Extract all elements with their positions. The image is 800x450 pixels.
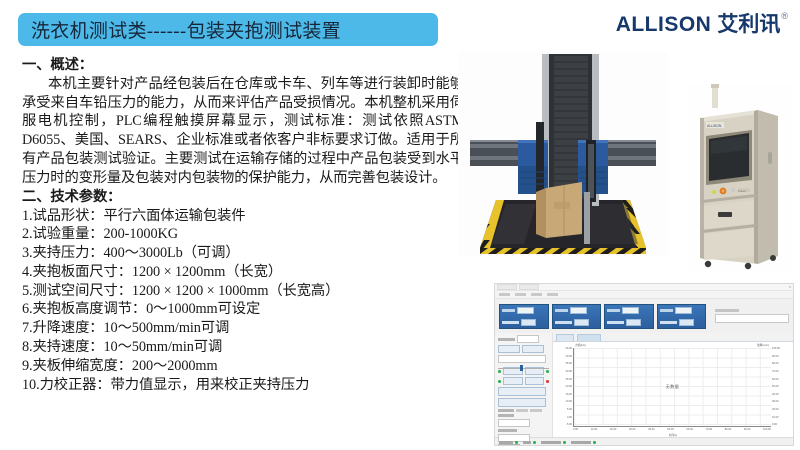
status-item-sampling [541, 441, 566, 444]
readout-unit-box [517, 307, 534, 314]
chart-area: 力值(Lb) 位移(mm) 45.00 40.00 35.00 30.00 25… [553, 333, 793, 437]
tick-label: 0.00 [567, 417, 572, 420]
tick-label: 70.00 [772, 371, 779, 374]
status-dot-down [546, 370, 549, 373]
start-button[interactable] [498, 387, 546, 396]
software-screenshot: × [494, 283, 794, 446]
tick-label: 5.00 [567, 409, 572, 412]
left-axis-ticks: 45.00 40.00 35.00 30.00 25.00 20.00 15.0… [554, 348, 572, 427]
tick-label: 40.00 [648, 429, 655, 434]
software-titlebar: × [495, 284, 793, 291]
list-item: 2.试验重量：200-1000KG [22, 225, 464, 244]
tick-label: 70.00 [706, 429, 713, 434]
svg-text:Power: Power [738, 189, 746, 193]
sample-name-label [498, 414, 514, 417]
slider-track [498, 368, 549, 369]
overview-heading: 一、概述： [22, 56, 464, 75]
readout-action-button[interactable] [574, 319, 589, 326]
status-label [523, 441, 531, 444]
plot-canvas[interactable]: 无数据 [573, 348, 771, 427]
tick-label: -5.00 [566, 424, 572, 427]
right-axis-unit: 位移(mm) [757, 343, 769, 347]
status-dot-alarm [546, 380, 549, 383]
window-tab[interactable] [497, 284, 517, 290]
tick-label: 60.00 [686, 429, 693, 434]
status-label [571, 441, 591, 444]
status-dot-clamp [498, 380, 501, 383]
parameter-list: 1.试品形状：平行六面体运输包装件 2.试验重量：200-1000KG 3.夹持… [22, 207, 464, 395]
status-dot-device [515, 441, 518, 444]
list-item: 4.夹抱板面尺寸：1200 × 1200mm（长宽） [22, 263, 464, 282]
note-input[interactable] [715, 314, 789, 323]
options-label [498, 409, 514, 412]
title-banner: 洗衣机测试类------包装夹抱测试装置 [18, 13, 438, 46]
tick-label: 10.00 [591, 429, 598, 434]
tab-curve[interactable] [556, 334, 574, 341]
status-dot-comm [533, 441, 536, 444]
machine-illustration [458, 52, 668, 257]
trademark-icon: ® [781, 11, 788, 21]
readout-value [607, 321, 624, 324]
status-label [499, 441, 513, 444]
note-label [715, 309, 739, 312]
tick-label: 10.00 [772, 417, 779, 420]
tick-label: 10.00 [566, 401, 573, 404]
status-item-comm [523, 441, 536, 444]
tick-label: 15.00 [566, 394, 573, 397]
readout-action-button[interactable] [521, 319, 536, 326]
tick-label: 40.00 [566, 356, 573, 359]
readout-unit-box [675, 307, 692, 314]
list-item: 5.测试空间尺寸：1200 × 1200 × 1000mm（长宽高） [22, 282, 464, 301]
readout-panel-force[interactable] [499, 304, 549, 329]
menu-item-edit[interactable] [515, 293, 526, 296]
readout-label [502, 309, 515, 312]
menu-item-tools[interactable] [531, 293, 542, 296]
page-title: 洗衣机测试类------包装夹抱测试装置 [31, 16, 341, 43]
list-item: 3.夹持压力：400～3000Lb（可调） [22, 244, 464, 263]
software-toolbar [495, 299, 793, 333]
mode-row [498, 335, 549, 343]
bottom-axis-unit: 时间(s) [669, 433, 677, 437]
tick-label: 90.00 [772, 356, 779, 359]
value-input[interactable] [498, 355, 546, 363]
mode-button-clamp[interactable] [522, 345, 544, 353]
status-dot-sampling [563, 441, 566, 444]
tick-label: 100.00 [772, 348, 780, 351]
clamp-open-button[interactable] [525, 377, 545, 385]
tick-label: 35.00 [566, 363, 573, 366]
tick-label: 100.00 [763, 429, 771, 434]
control-panel [495, 333, 553, 437]
readout-unit-box [622, 307, 639, 314]
readout-value [660, 321, 677, 324]
tick-label: 50.00 [772, 386, 779, 389]
tick-label: 30.00 [566, 371, 573, 374]
readout-action-button[interactable] [679, 319, 694, 326]
window-tab[interactable] [519, 284, 539, 290]
readout-unit-box [570, 307, 587, 314]
status-label [541, 441, 561, 444]
list-item: 9.夹板伸缩宽度：200～2000mm [22, 357, 464, 376]
status-item-device [499, 441, 518, 444]
option-check-2[interactable] [530, 409, 542, 412]
brand-name-cn: 艾利讯 [717, 14, 780, 35]
brand-name-en: ALLISON [616, 14, 712, 35]
tick-label: 45.00 [566, 348, 573, 351]
status-item-record [571, 441, 596, 444]
software-body: 力值(Lb) 位移(mm) 45.00 40.00 35.00 30.00 25… [495, 333, 793, 437]
tick-label: 20.00 [772, 409, 779, 412]
menu-item-help[interactable] [547, 293, 558, 296]
chart-tabs [553, 333, 793, 342]
cabinet-illustration: ALLISON Power [688, 84, 792, 272]
readout-panel-displacement[interactable] [552, 304, 602, 329]
field-label-2 [498, 429, 549, 432]
mode-select[interactable] [517, 335, 539, 343]
specification-body: 一、概述： 本机主要针对产品经包装后在仓库或卡车、列车等进行装卸时能够承受来自车… [22, 56, 464, 394]
menu-item-file[interactable] [499, 293, 510, 296]
slider-knob[interactable] [520, 365, 523, 371]
tick-label: 90.00 [744, 429, 751, 434]
right-axis-ticks: 100.00 90.00 80.00 70.00 60.00 50.00 40.… [772, 348, 792, 427]
mode-button-lift[interactable] [498, 345, 520, 353]
readout-value [555, 321, 572, 324]
tick-label: 30.00 [772, 401, 779, 404]
status-dot-up [498, 370, 501, 373]
plot-empty-text: 无数据 [666, 384, 680, 390]
mode-label [498, 338, 515, 341]
tick-label: 25.00 [566, 379, 573, 382]
mode-button-row [498, 345, 549, 353]
option-check-1[interactable] [516, 409, 528, 412]
tick-label: 20.00 [566, 386, 573, 389]
options-row [498, 409, 549, 412]
tick-label: 80.00 [772, 363, 779, 366]
tick-label: 0.00 [772, 424, 777, 427]
tab-test-data[interactable] [577, 334, 601, 341]
readout-label [555, 309, 568, 312]
sample-name-input[interactable] [498, 419, 530, 427]
stop-button[interactable] [498, 398, 546, 407]
plot-wrapper: 力值(Lb) 位移(mm) 45.00 40.00 35.00 30.00 25… [553, 342, 793, 437]
list-item: 10.力校正器：带力值显示，用来校正夹持压力 [22, 376, 464, 395]
clamp-test-machine-photo [458, 52, 668, 257]
left-axis-unit: 力值(Lb) [575, 343, 586, 347]
readout-panel-speed[interactable] [604, 304, 654, 329]
list-item: 1.试品形状：平行六面体运输包装件 [22, 207, 464, 226]
readout-value [502, 321, 519, 324]
clamp-close-button[interactable] [503, 377, 523, 385]
stop-row [498, 398, 549, 407]
tick-label: 0.00 [573, 429, 578, 434]
brand-logo: ALLISON 艾利讯 ® [616, 14, 788, 35]
field-input-1 [498, 419, 549, 427]
field-label-1 [498, 414, 549, 417]
readout-action-button[interactable] [626, 319, 641, 326]
tick-label: 30.00 [629, 429, 636, 434]
overview-paragraph: 本机主要针对产品经包装后在仓库或卡车、列车等进行装卸时能够承受来自车铅压力的能力… [22, 75, 464, 188]
value-field-row [498, 355, 549, 363]
readout-panel-time[interactable] [657, 304, 707, 329]
list-item: 6.夹抱板高度调节：0～1000mm可设定 [22, 300, 464, 319]
list-item: 8.夹持速度：10～50mm/min可调 [22, 338, 464, 357]
sample-id-label [498, 429, 517, 432]
tick-label: 60.00 [772, 379, 779, 382]
close-icon[interactable]: × [789, 285, 791, 289]
software-menubar [495, 291, 793, 299]
control-cabinet-photo: ALLISON Power [688, 84, 792, 272]
note-group [715, 309, 789, 323]
jog-row-2 [498, 377, 549, 385]
svg-text:ALLISON: ALLISON [707, 124, 722, 128]
start-row [498, 387, 549, 396]
tick-label: 20.00 [610, 429, 617, 434]
tick-label: 80.00 [725, 429, 732, 434]
readout-label [660, 309, 673, 312]
list-item: 7.升降速度：10～500mm/min可调 [22, 319, 464, 338]
parameters-heading: 二、技术参数： [22, 188, 464, 207]
readout-label [607, 309, 620, 312]
status-dot-record [593, 441, 596, 444]
tick-label: 40.00 [772, 394, 779, 397]
